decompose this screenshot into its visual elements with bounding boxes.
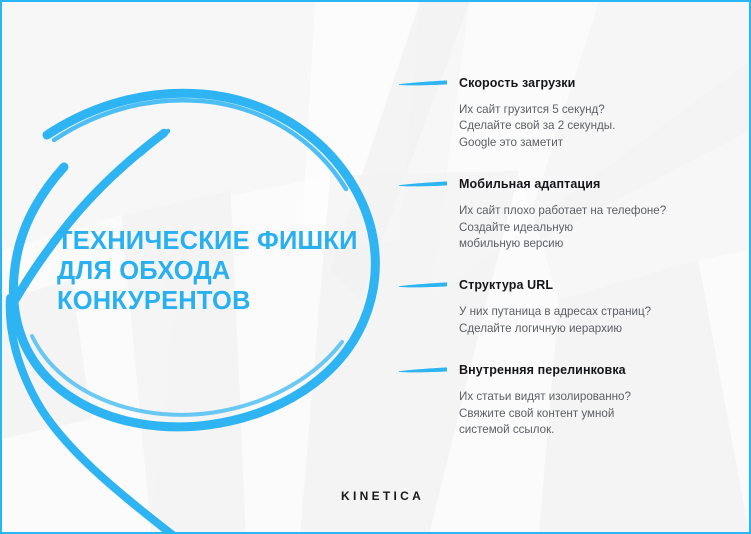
brush-dash-icon xyxy=(398,280,448,290)
feature-header: Мобильная адаптация xyxy=(398,177,728,191)
brush-dash-icon xyxy=(398,78,448,88)
feature-item-internal-linking: Внутренняя перелинковка Их статьи видят … xyxy=(398,363,728,438)
brand-logo: KINETICA xyxy=(341,489,424,503)
feature-body-line: мобильную версию xyxy=(459,236,728,252)
feature-body-line: Их статьи видят изолированно? xyxy=(459,389,728,405)
feature-body-line: Google это заметит xyxy=(459,135,728,151)
feature-item-mobile: Мобильная адаптация Их сайт плохо работа… xyxy=(398,177,728,252)
feature-header: Внутренняя перелинковка xyxy=(398,363,728,377)
feature-body-line: Создайте идеальную xyxy=(459,220,728,236)
feature-body-line: системой ссылок. xyxy=(459,422,728,438)
feature-body-line: Сделайте логичную иерархию xyxy=(459,321,728,337)
title-line-3: КОНКУРЕНТОВ xyxy=(57,286,387,316)
title-line-2: ДЛЯ ОБХОДА xyxy=(57,256,387,286)
feature-title: Скорость загрузки xyxy=(459,76,575,90)
feature-list: Скорость загрузки Их сайт грузится 5 сек… xyxy=(398,76,728,438)
feature-header: Структура URL xyxy=(398,278,728,292)
feature-body-line: У них путаница в адресах страниц? xyxy=(459,304,728,320)
feature-body: Их сайт плохо работает на телефоне? Созд… xyxy=(459,203,728,252)
brush-dash-icon xyxy=(398,179,448,189)
feature-title: Мобильная адаптация xyxy=(459,177,600,191)
feature-item-speed: Скорость загрузки Их сайт грузится 5 сек… xyxy=(398,76,728,151)
feature-header: Скорость загрузки xyxy=(398,76,728,90)
feature-body-line: Свяжите свой контент умной xyxy=(459,406,728,422)
feature-title: Структура URL xyxy=(459,278,553,292)
page-title: ТЕХНИЧЕСКИЕ ФИШКИ ДЛЯ ОБХОДА КОНКУРЕНТОВ xyxy=(57,226,387,316)
feature-body: Их сайт грузится 5 секунд? Сделайте свой… xyxy=(459,102,728,151)
feature-body: Их статьи видят изолированно? Свяжите св… xyxy=(459,389,728,438)
feature-body: У них путаница в адресах страниц? Сделай… xyxy=(459,304,728,337)
feature-title: Внутренняя перелинковка xyxy=(459,363,626,377)
feature-body-line: Их сайт плохо работает на телефоне? xyxy=(459,203,728,219)
feature-body-line: Их сайт грузится 5 секунд? xyxy=(459,102,728,118)
feature-body-line: Сделайте свой за 2 секунды. xyxy=(459,118,728,134)
brush-dash-icon xyxy=(398,365,448,375)
feature-item-url: Структура URL У них путаница в адресах с… xyxy=(398,278,728,337)
title-line-1: ТЕХНИЧЕСКИЕ ФИШКИ xyxy=(57,226,387,256)
slide: ТЕХНИЧЕСКИЕ ФИШКИ ДЛЯ ОБХОДА КОНКУРЕНТОВ… xyxy=(0,0,751,534)
